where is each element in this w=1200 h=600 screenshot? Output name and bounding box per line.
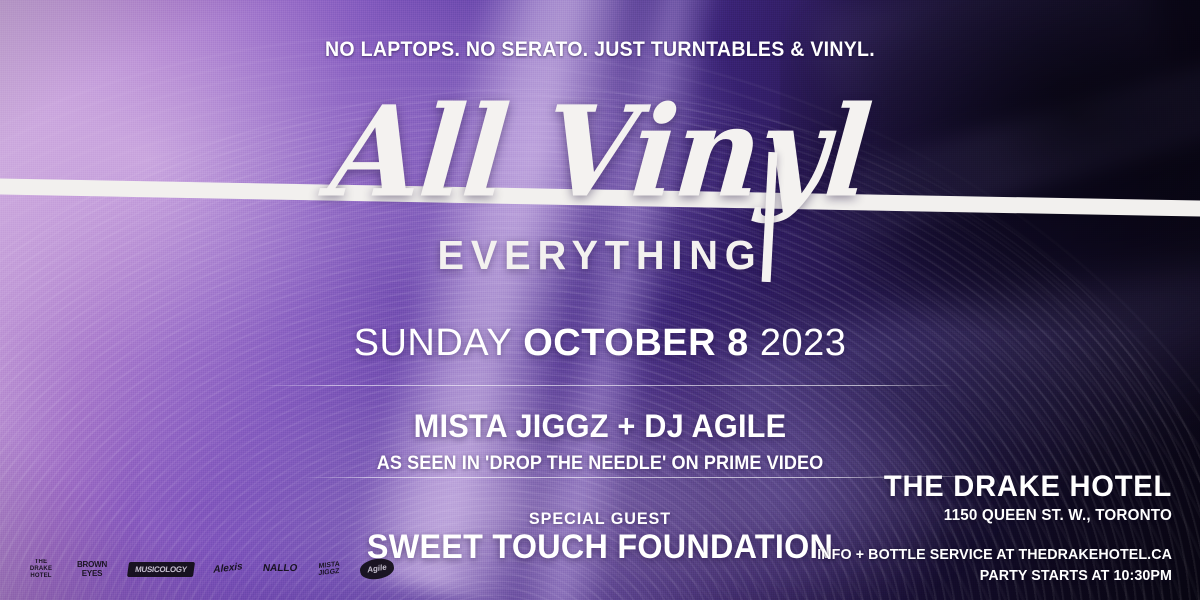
brown-eyes-logo: BROWN EYES <box>70 556 114 582</box>
mista-jiggz-logo: MISTA JIGGZ <box>312 554 347 584</box>
logo-script-title: All Vinyl <box>326 93 874 212</box>
nallo-logo: NALLO <box>260 558 299 580</box>
venue-info-line: INFO + BOTTLE SERVICE AT THEDRAKEHOTEL.C… <box>792 546 1172 563</box>
drake-hotel-logo-line3: HOTEL <box>30 573 51 579</box>
brown-eyes-logo-line2: EYES <box>82 570 103 578</box>
musicology-logo: MUSICOLOGY <box>127 562 195 577</box>
drake-hotel-logo-line1: THE <box>35 559 48 565</box>
event-logo: All Vinyl <box>0 96 1200 208</box>
date-day: SUNDAY <box>354 322 513 364</box>
venue-block: THE DRAKE HOTEL 1150 QUEEN ST. W., TORON… <box>772 470 1172 584</box>
mista-jiggz-logo-line2: JIGGZ <box>318 568 339 577</box>
alexis-logo: Alexis <box>208 556 248 583</box>
date-year: 2023 <box>760 322 847 364</box>
drake-hotel-logo-line2: DRAKE <box>30 566 52 572</box>
divider-top <box>255 385 955 386</box>
headliner-artists: MISTA JIGGZ + DJ AGILE <box>24 408 1176 445</box>
venue-start-time: PARTY STARTS AT 10:30PM <box>792 567 1172 584</box>
sponsor-logo-strip: THE DRAKE HOTEL BROWN EYES MUSICOLOGY Al… <box>26 556 394 582</box>
logo-subtitle: EVERYTHING <box>18 232 1182 279</box>
venue-address: 1150 QUEEN ST. W., TORONTO <box>792 507 1172 525</box>
divider-middle <box>300 477 910 478</box>
brown-eyes-logo-line1: BROWN <box>77 561 107 569</box>
drake-hotel-logo: THE DRAKE HOTEL <box>26 556 56 582</box>
tagline: NO LAPTOPS. NO SERATO. JUST TURNTABLES &… <box>42 38 1158 62</box>
date-month-day: OCTOBER 8 <box>523 322 749 364</box>
event-poster: NO LAPTOPS. NO SERATO. JUST TURNTABLES &… <box>0 0 1200 600</box>
agile-logo: Agile <box>359 556 396 581</box>
event-date: SUNDAY OCTOBER 8 2023 <box>0 322 1200 365</box>
divider-right <box>860 476 980 477</box>
poster-content: NO LAPTOPS. NO SERATO. JUST TURNTABLES &… <box>0 0 1200 600</box>
